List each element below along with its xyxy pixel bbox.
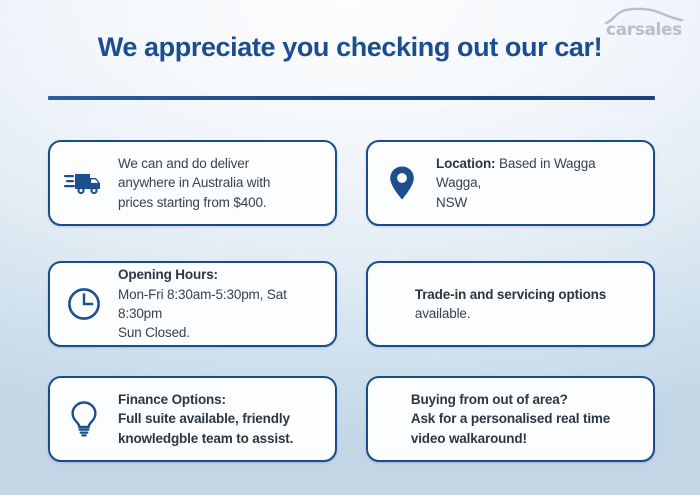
card-text-finance: Finance Options: Full suite available, f…: [118, 390, 293, 448]
card-label: Finance Options:: [118, 390, 293, 409]
card-text-opening-hours: Opening Hours: Mon-Fri 8:30am-5:30pm, Sa…: [118, 265, 321, 343]
card-label: Location:: [436, 156, 495, 171]
page-title: We appreciate you checking out our car!: [0, 32, 700, 63]
card-line: available.: [415, 304, 606, 323]
card-line: knowledgble team to assist.: [118, 429, 293, 448]
info-card-opening-hours: Opening Hours: Mon-Fri 8:30am-5:30pm, Sa…: [48, 261, 337, 347]
card-line: NSW: [436, 193, 639, 212]
clock-icon: [64, 284, 104, 324]
delivery-truck-icon: [64, 163, 104, 203]
card-line: Sun Closed.: [118, 323, 321, 342]
card-line: Mon-Fri 8:30am-5:30pm, Sat 8:30pm: [118, 285, 321, 324]
card-line: prices starting from $400.: [118, 193, 270, 212]
card-text-location: Location: Based in Wagga Wagga, NSW: [436, 154, 639, 212]
card-label: Opening Hours:: [118, 265, 321, 284]
info-card-trade-in: Trade-in and servicing options available…: [366, 261, 655, 347]
card-line: Trade-in and servicing options: [415, 285, 606, 304]
info-card-location: Location: Based in Wagga Wagga, NSW: [366, 140, 655, 226]
card-line: Full suite available, friendly: [118, 409, 293, 428]
info-card-finance: Finance Options: Full suite available, f…: [48, 376, 337, 462]
card-line: Location: Based in Wagga Wagga,: [436, 154, 639, 193]
card-line: anywhere in Australia with: [118, 173, 270, 192]
card-text-delivery: We can and do deliver anywhere in Austra…: [118, 154, 270, 212]
card-line: video walkaround!: [411, 429, 610, 448]
promo-banner: carsales We appreciate you checking out …: [0, 0, 700, 495]
card-text-trade-in: Trade-in and servicing options available…: [415, 285, 606, 324]
title-divider: [48, 96, 655, 100]
card-line: We can and do deliver: [118, 154, 270, 173]
card-text-out-of-area: Buying from out of area? Ask for a perso…: [411, 390, 610, 448]
map-pin-icon: [382, 163, 422, 203]
info-card-delivery: We can and do deliver anywhere in Austra…: [48, 140, 337, 226]
card-line: Buying from out of area?: [411, 390, 610, 409]
lightbulb-icon: [64, 399, 104, 439]
card-line: Ask for a personalised real time: [411, 409, 610, 428]
info-card-out-of-area: Buying from out of area? Ask for a perso…: [366, 376, 655, 462]
